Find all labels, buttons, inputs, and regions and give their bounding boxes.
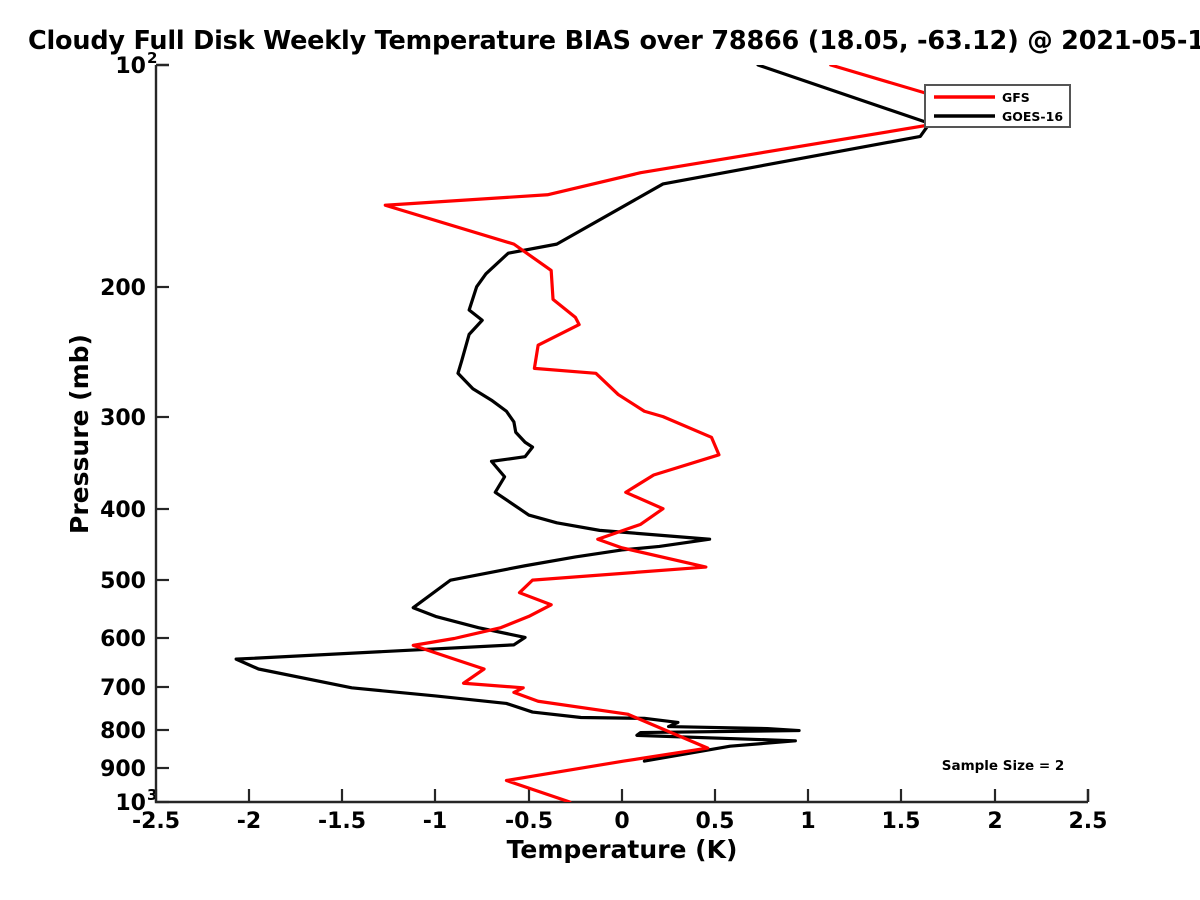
sample-size-annotation: Sample Size = 2 [942,758,1065,774]
y-tick-label-600: 600 [100,627,146,652]
x-tick-label-2.5: 2.5 [1069,809,1108,834]
plot-data-area [236,65,1010,802]
x-tick-label--0.5: -0.5 [505,809,553,834]
x-tick-label-2: 2 [987,809,1002,834]
x-axis-ticks [156,789,1088,802]
x-tick-label-1: 1 [800,809,815,834]
y-tick-label-200: 200 [100,276,146,301]
legend-label-goes-16: GOES-16 [1002,109,1063,124]
x-tick-label--2: -2 [237,809,261,834]
chart-legend[interactable]: GFS GOES-16 [925,85,1070,127]
y-axis-tick-labels: 10 2 200 300 400 500 600 700 800 900 10 … [100,49,157,816]
x-tick-label--1: -1 [423,809,447,834]
y-tick-label-500: 500 [100,569,146,594]
y-tick-label-800: 800 [100,719,146,744]
y-tick-label-900: 900 [100,757,146,782]
x-tick-label-0.5: 0.5 [696,809,735,834]
y-tick-label-300: 300 [100,406,146,431]
y-tick-label-400: 400 [100,498,146,523]
x-axis-title: Temperature (K) [507,835,738,864]
x-tick-label--1.5: -1.5 [318,809,366,834]
y-tick-label-100-exponent: 2 [147,49,157,67]
y-tick-label-700: 700 [100,676,146,701]
y-axis-title: Pressure (mb) [65,334,94,534]
legend-label-gfs: GFS [1002,90,1030,105]
series-line-gfs [385,65,1009,802]
x-tick-label-1.5: 1.5 [882,809,921,834]
temperature-bias-profile-chart: 10 2 200 300 400 500 600 700 800 900 10 … [0,0,1200,900]
x-tick-label-0: 0 [614,809,629,834]
series-line-goes-16 [236,65,929,761]
chart-page: Cloudy Full Disk Weekly Temperature BIAS… [0,0,1200,900]
x-tick-label--2.5: -2.5 [132,809,180,834]
y-tick-label-100: 10 [115,54,146,79]
x-axis-tick-labels: -2.5 -2 -1.5 -1 -0.5 0 0.5 1 1.5 2 2.5 [132,809,1108,834]
y-axis-ticks [156,65,169,802]
